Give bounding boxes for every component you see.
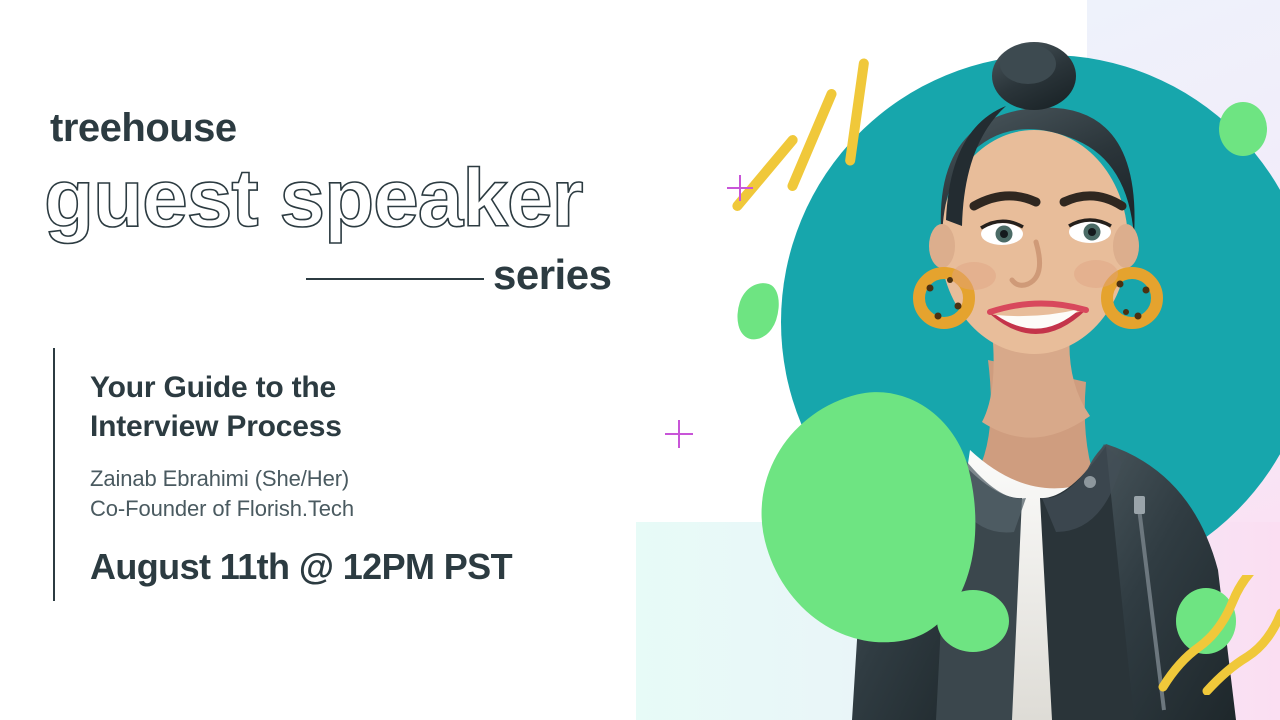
vertical-divider-rule xyxy=(53,348,55,601)
brand-wordmark: treehouse xyxy=(50,108,237,148)
talk-title-line-2: Interview Process xyxy=(90,407,610,446)
event-datetime: August 11th @ 12PM PST xyxy=(90,547,610,587)
speaker-name: Zainab Ebrahimi (She/Her) xyxy=(90,464,610,494)
series-divider-rule xyxy=(306,278,484,280)
event-details-block: Your Guide to the Interview Process Zain… xyxy=(90,368,610,586)
green-circle-shape xyxy=(937,590,1009,652)
left-content-column: treehouse guest speaker series Your Guid… xyxy=(0,0,650,720)
magenta-plus-icon xyxy=(665,420,693,448)
talk-title: Your Guide to the Interview Process xyxy=(90,368,610,446)
speaker-role: Co-Founder of Florish.Tech xyxy=(90,494,610,524)
magenta-plus-icon xyxy=(727,175,753,201)
talk-title-line-1: Your Guide to the xyxy=(90,368,610,407)
yellow-wave-icon xyxy=(1155,575,1280,695)
headline-outlined: guest speaker xyxy=(44,158,583,240)
slide-canvas: treehouse guest speaker series Your Guid… xyxy=(0,0,1280,720)
series-label: series xyxy=(493,254,611,296)
green-blob-shape xyxy=(730,277,786,345)
